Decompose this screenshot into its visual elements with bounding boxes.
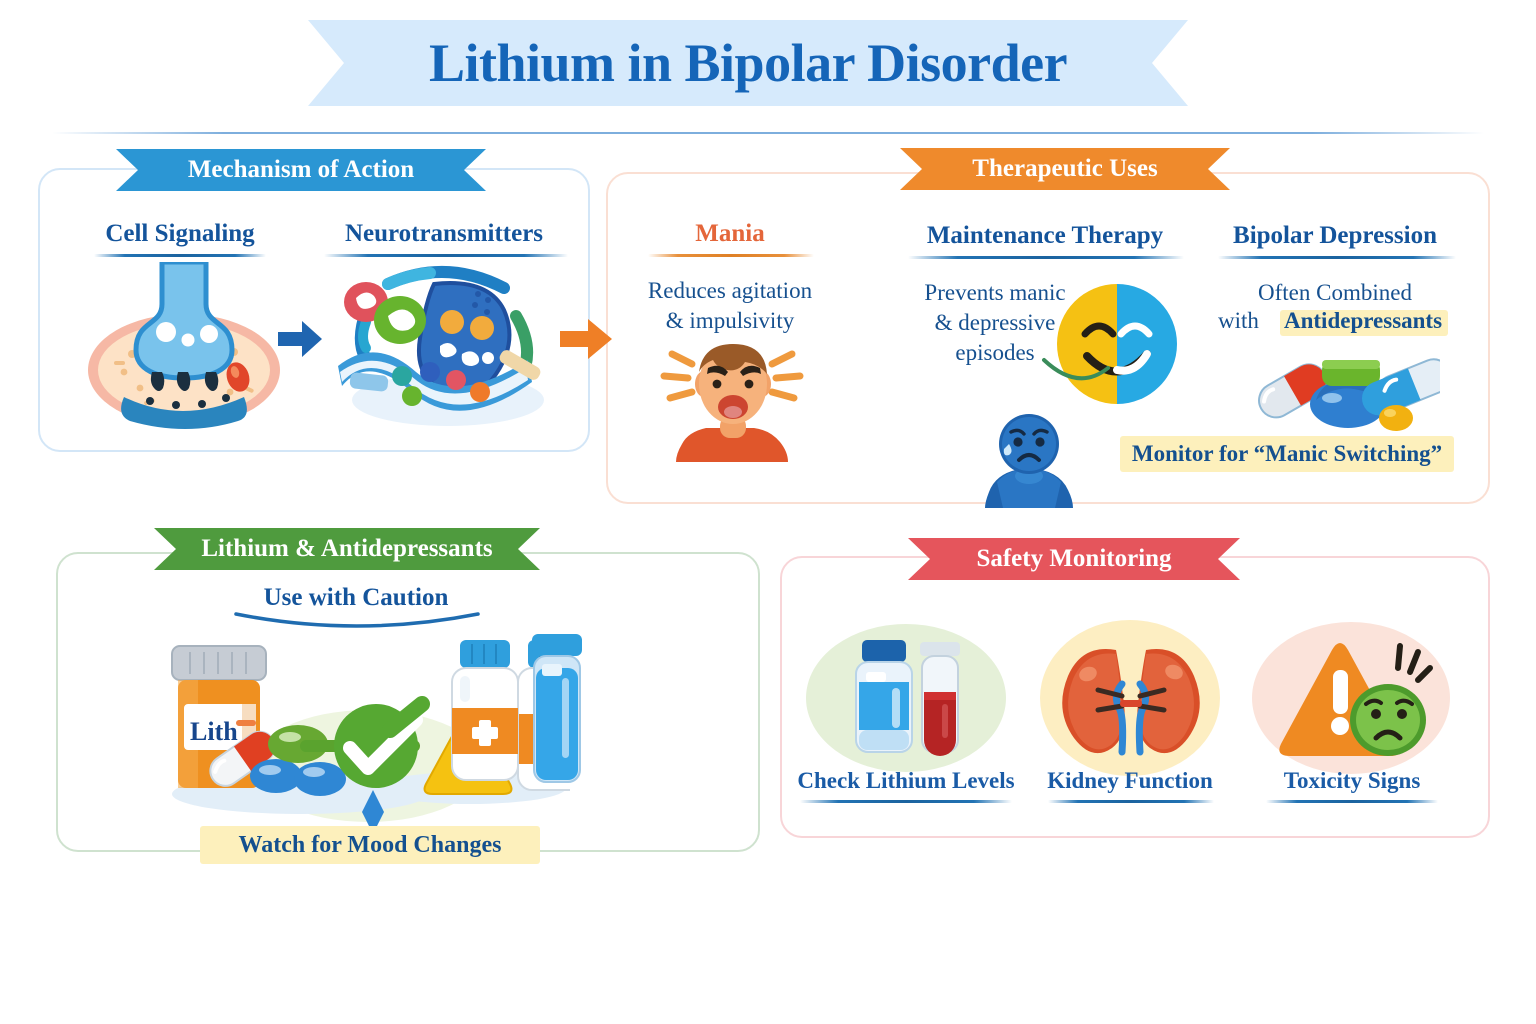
ribbon-therapeutic-uses: Therapeutic Uses: [900, 148, 1230, 190]
text-mania-line1: Reduces agitation: [630, 276, 830, 306]
underline-toxicity-signs: [1266, 800, 1438, 803]
text-bipolar-line1: Often Combined: [1210, 278, 1460, 308]
safety-label-kidney-function: Kidney Function: [1040, 768, 1220, 794]
underline-kidney-function: [1048, 800, 1214, 803]
heading-mania: Mania: [640, 220, 820, 248]
heading-maintenance-therapy: Maintenance Therapy: [898, 222, 1192, 250]
text-bipolar-line2-prefix: with: [1218, 308, 1259, 334]
underline-check-lithium-levels: [800, 800, 1012, 803]
angry-face-icon: [648, 332, 816, 467]
vial-and-blood-tube-icon: [846, 638, 968, 763]
underline-bipolar-depression: [1218, 256, 1456, 259]
underline-mania: [648, 254, 814, 257]
synapse-cell-icon: [84, 262, 284, 437]
blue-arrow-right: [278, 320, 322, 363]
pill-bottle-label: Lith: [190, 717, 238, 746]
header-divider: [52, 132, 1484, 134]
curved-underline-icon: [232, 612, 482, 639]
page-title: Lithium in Bipolar Disorder: [308, 20, 1188, 106]
text-bipolar-line2-highlight: Antidepressants: [1284, 308, 1442, 334]
warning-sick-face-icon: [1272, 634, 1436, 767]
lithium-vial-icon: [856, 640, 912, 752]
sad-person-icon: [975, 414, 1083, 513]
medicine-bottle-icon: [452, 640, 518, 780]
safety-label-check-lithium-levels: Check Lithium Levels: [786, 768, 1026, 794]
orange-arrow-right: [560, 318, 612, 365]
heading-neurotransmitters: Neurotransmitters: [312, 220, 576, 248]
heading-bipolar-depression: Bipolar Depression: [1210, 222, 1460, 250]
bottle-and-tube-icon: [450, 634, 590, 799]
underline-neurotransmitters: [324, 254, 568, 257]
ribbon-safety-monitoring: Safety Monitoring: [908, 538, 1240, 580]
pills-group-icon: [1240, 342, 1440, 437]
kidneys-icon: [1058, 640, 1204, 765]
blood-tube-icon: [920, 642, 960, 756]
neurotransmitter-icon: [330, 262, 552, 437]
ribbon-lithium-antidepressants: Lithium & Antidepressants: [154, 528, 540, 570]
ribbon-mechanism-of-action: Mechanism of Action: [116, 149, 486, 191]
heading-use-with-caution: Use with Caution: [246, 584, 466, 612]
underline-cell-signaling: [94, 254, 266, 257]
safety-label-toxicity-signs: Toxicity Signs: [1252, 768, 1452, 794]
green-arc-icon: [1040, 352, 1110, 397]
callout-mood-changes: Watch for Mood Changes: [200, 832, 540, 859]
callout-manic-switching: Monitor for “Manic Switching”: [1120, 441, 1454, 467]
heading-cell-signaling: Cell Signaling: [80, 220, 280, 248]
underline-maintenance-therapy: [908, 256, 1184, 259]
test-tube-icon: [532, 634, 582, 782]
